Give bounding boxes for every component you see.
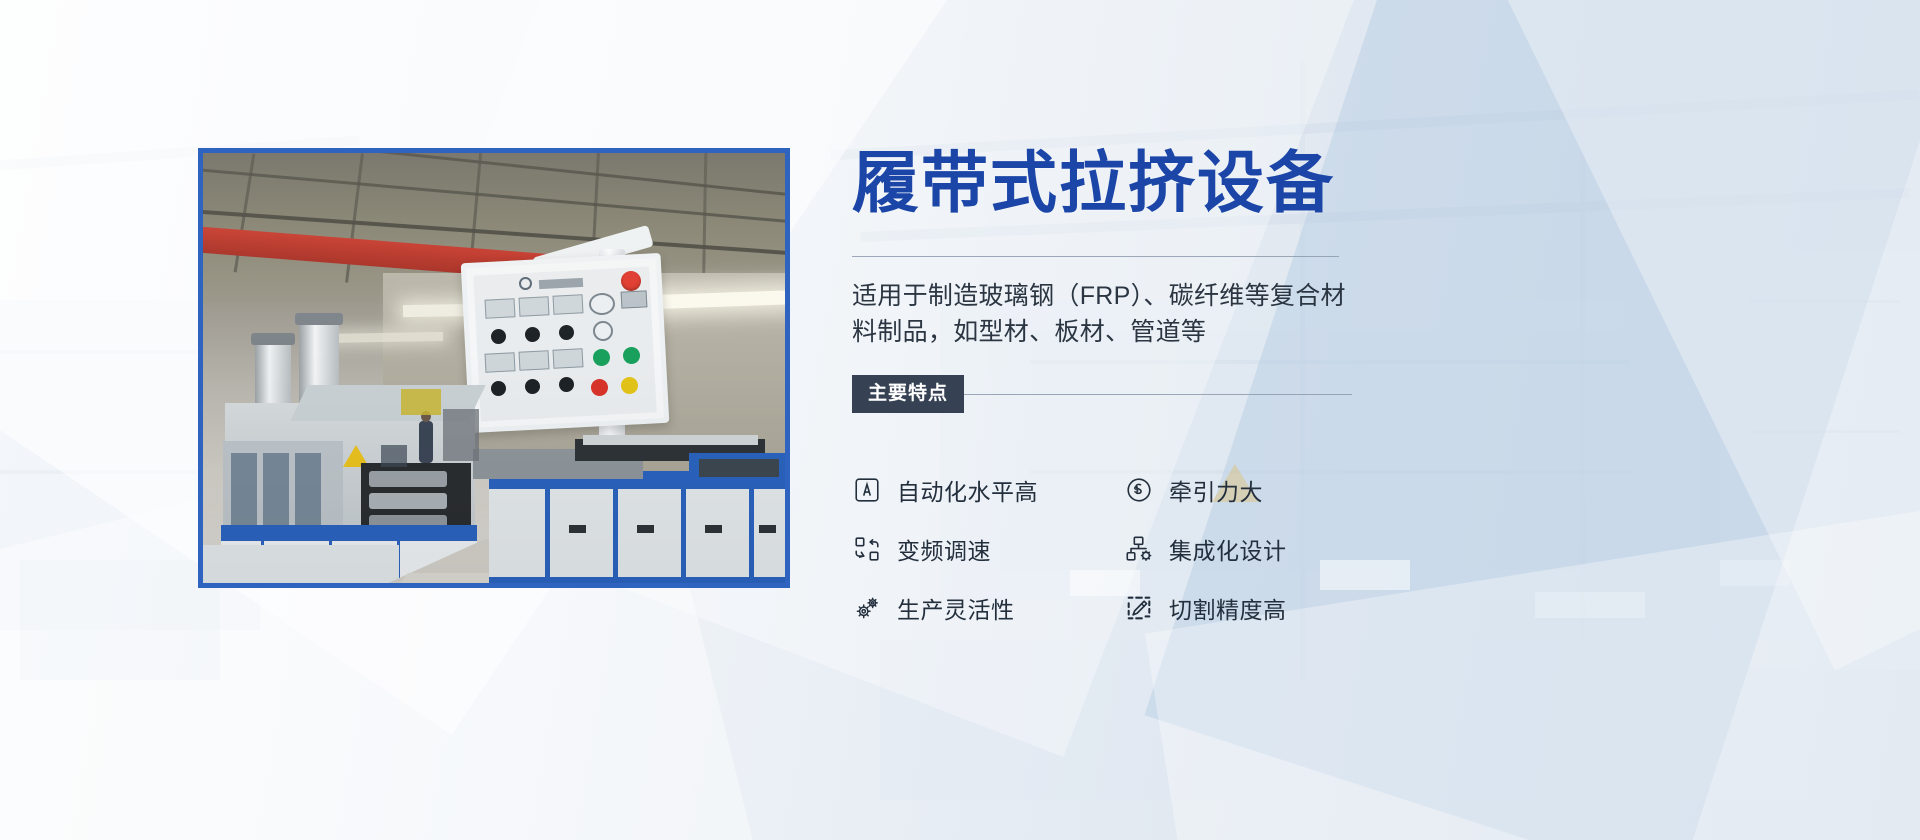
feature-label: 集成化设计	[1169, 532, 1287, 566]
feature-list: 自动化水平高 牵引力大	[852, 460, 1352, 637]
page-title: 履带式拉挤设备	[852, 150, 1352, 217]
feature-item[interactable]: 集成化设计	[1124, 532, 1339, 566]
feature-item[interactable]: 生产灵活性	[852, 591, 1124, 625]
letter-a-in-rounded-square-icon	[852, 475, 882, 505]
feature-label: 生产灵活性	[897, 591, 1015, 625]
product-photo	[198, 148, 790, 588]
feature-item[interactable]: 自动化水平高	[852, 473, 1124, 507]
decor-ghost-3	[1535, 592, 1645, 618]
integrated-nodes-gear-icon	[1124, 534, 1154, 564]
traction-swirl-circle-icon	[1124, 475, 1154, 505]
divider-top	[852, 256, 1339, 257]
status-badge: 主要特点	[852, 375, 964, 413]
feature-item[interactable]: 切割精度高	[1124, 591, 1339, 625]
features-heading: 主要特点	[852, 375, 1352, 413]
banner-content: 履带式拉挤设备 适用于制造玻璃钢（FRP）、碳纤维等复合材料制品，如型材、板材、…	[852, 150, 1352, 637]
gears-icon	[852, 593, 882, 623]
feature-item[interactable]: 变频调速	[852, 532, 1124, 566]
feature-label: 牵引力大	[1169, 473, 1263, 507]
dashed-box-pen-icon	[1124, 593, 1154, 623]
feature-item[interactable]: 牵引力大	[1124, 473, 1339, 507]
feature-label: 自动化水平高	[897, 473, 1038, 507]
product-photo-image	[203, 153, 785, 583]
page-subtitle: 适用于制造玻璃钢（FRP）、碳纤维等复合材料制品，如型材、板材、管道等	[852, 279, 1349, 350]
feature-label: 变频调速	[897, 532, 991, 566]
frequency-nodes-icon	[852, 534, 882, 564]
decor-ghost-4	[1720, 560, 1790, 586]
feature-label: 切割精度高	[1169, 591, 1287, 625]
divider-badge	[964, 394, 1352, 395]
